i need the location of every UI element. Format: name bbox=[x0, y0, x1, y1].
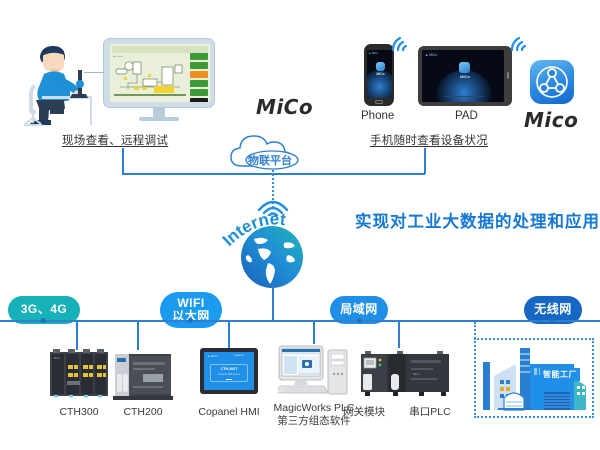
pad-screen: MiCo ▲ MiCo bbox=[422, 50, 504, 102]
person-at-desk-illustration bbox=[22, 40, 100, 130]
device-label-copanel: Copanel HMI bbox=[190, 406, 268, 419]
drop-line-copanel bbox=[228, 320, 230, 348]
internet-label: Internet bbox=[218, 206, 326, 254]
copanel-screen: ▲ MiCo Copanel CTH-300T Copanel HMI Seri… bbox=[204, 352, 254, 390]
device-gateway-serialplc: MiCo bbox=[357, 350, 453, 400]
pad-label: PAD bbox=[455, 110, 478, 122]
svg-text:MiCo: MiCo bbox=[413, 372, 420, 376]
phone-home-button[interactable] bbox=[375, 100, 383, 104]
scada-process-screen: ▪▪▪ ▪▪▪▪▪ bbox=[110, 44, 210, 102]
phone-label: Phone bbox=[361, 110, 394, 122]
cloud-label: 物联平台 bbox=[248, 152, 292, 168]
phone-wifi-signal-icon bbox=[389, 30, 413, 52]
page-headline: 实现对工业大数据的处理和应用 bbox=[355, 208, 600, 232]
drop-line-cth300 bbox=[76, 320, 78, 350]
mico-brand-word: MiCo bbox=[256, 95, 313, 119]
device-label-serialplc: 串口PLC bbox=[400, 406, 460, 419]
bus-node-wireless bbox=[550, 318, 555, 323]
monitor-base bbox=[139, 117, 179, 121]
mico-app-name: Mico bbox=[524, 108, 578, 132]
svg-text:MiCo: MiCo bbox=[54, 356, 61, 360]
device-label-cth200: CTH200 bbox=[113, 406, 173, 419]
workstation-drop-line bbox=[122, 148, 124, 174]
pad-home-button[interactable] bbox=[507, 72, 509, 79]
drop-line-gateway bbox=[398, 320, 400, 348]
svg-text:Internet: Internet bbox=[219, 209, 288, 249]
pad-wifi-signal-icon bbox=[508, 30, 532, 52]
device-label-cth300: CTH300 bbox=[49, 406, 109, 419]
mico-app-icon[interactable] bbox=[530, 60, 574, 104]
bus-node-lan bbox=[357, 318, 362, 323]
internet-to-bus-line bbox=[272, 286, 274, 320]
mobile-caption: 手机随时查看设备状况 bbox=[370, 132, 488, 148]
monitor-cable bbox=[84, 72, 104, 73]
pad-device: MiCo ▲ MiCo bbox=[418, 46, 512, 106]
phone-device: MiCo ▲ MiCo bbox=[364, 44, 394, 106]
workstation-caption: 现场查看、远程调试 bbox=[62, 132, 168, 148]
device-magicworks-pc bbox=[278, 344, 350, 400]
pad-app-tile bbox=[459, 62, 470, 73]
hmi-status-buttons bbox=[190, 53, 208, 102]
phone-app-tile bbox=[376, 62, 385, 71]
device-copanel-hmi: ▲ MiCo Copanel CTH-300T Copanel HMI Seri… bbox=[200, 348, 258, 394]
device-label-gateway: 网关模块 bbox=[334, 406, 394, 419]
device-bus-line bbox=[0, 320, 600, 322]
device-cth300: MiCo bbox=[48, 348, 110, 402]
bus-node-3g4g bbox=[41, 318, 46, 323]
drop-line-cth200 bbox=[137, 320, 139, 350]
infographic-canvas: ▪▪▪ ▪▪▪▪▪ bbox=[0, 0, 600, 450]
phone-screen: MiCo ▲ MiCo bbox=[367, 50, 392, 98]
bus-node-wifi bbox=[188, 318, 193, 323]
network-nodes-icon bbox=[530, 60, 574, 104]
factory-sign: 智能工厂 bbox=[540, 368, 580, 381]
workstation-monitor: ▪▪▪ ▪▪▪▪▪ bbox=[103, 38, 215, 108]
mobile-drop-line bbox=[424, 148, 426, 174]
drop-line-magicworks bbox=[313, 320, 315, 344]
device-cth200 bbox=[113, 352, 173, 402]
